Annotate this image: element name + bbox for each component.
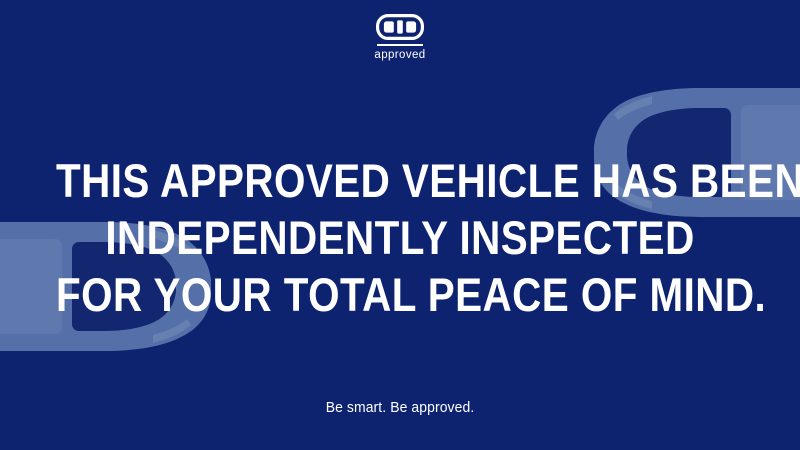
brand-lockup: approved [0, 14, 800, 62]
brand-wordmark: approved [374, 50, 425, 62]
headline-line-3: FOR YOUR TOTAL PEACE OF MIND. [56, 266, 744, 323]
headline-line-1: THIS APPROVED VEHICLE HAS BEEN [56, 152, 744, 209]
headline: THIS APPROVED VEHICLE HAS BEEN INDEPENDE… [0, 152, 800, 323]
brand-divider-rule [377, 44, 423, 46]
approved-vehicle-banner: approved THIS APPROVED VEHICLE HAS BEEN … [0, 0, 800, 450]
headline-line-2: INDEPENDENTLY INSPECTED [56, 209, 744, 266]
tagline: Be smart. Be approved. [28, 398, 772, 418]
car-top-view-icon [376, 14, 424, 40]
